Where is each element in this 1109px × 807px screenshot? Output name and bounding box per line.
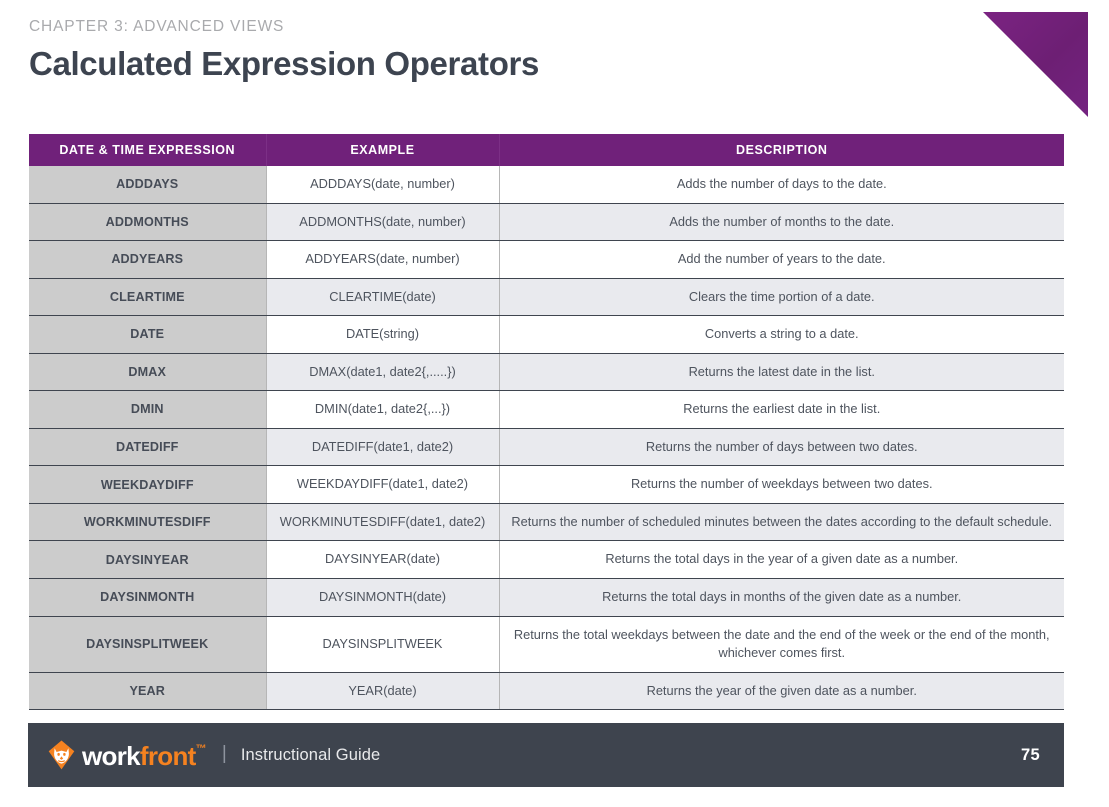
table-row: ADDYEARSADDYEARS(date, number)Add the nu… bbox=[29, 241, 1064, 279]
cell-expression-name: DAYSINSPLITWEEK bbox=[29, 616, 266, 672]
cell-example: ADDDAYS(date, number) bbox=[266, 166, 499, 203]
cell-description: Returns the total days in the year of a … bbox=[499, 541, 1064, 579]
operators-table: DATE & TIME EXPRESSION EXAMPLE DESCRIPTI… bbox=[29, 134, 1064, 710]
table-row: DATEDIFFDATEDIFF(date1, date2)Returns th… bbox=[29, 428, 1064, 466]
footer-bar: workfront™ | Instructional Guide 75 bbox=[28, 723, 1064, 787]
cell-expression-name: DMAX bbox=[29, 353, 266, 391]
cell-description: Returns the total weekdays between the d… bbox=[499, 616, 1064, 672]
brand-word-work: work bbox=[82, 741, 140, 771]
table-row: WORKMINUTESDIFFWORKMINUTESDIFF(date1, da… bbox=[29, 503, 1064, 541]
brand-word-front: front bbox=[140, 741, 196, 771]
cell-description: Returns the number of scheduled minutes … bbox=[499, 503, 1064, 541]
page-number: 75 bbox=[1021, 746, 1040, 765]
cell-example: WEEKDAYDIFF(date1, date2) bbox=[266, 466, 499, 504]
table-row: DMAXDMAX(date1, date2{,.....})Returns th… bbox=[29, 353, 1064, 391]
cell-example: DAYSINYEAR(date) bbox=[266, 541, 499, 579]
corner-triangle-decoration bbox=[983, 12, 1088, 117]
cell-description: Converts a string to a date. bbox=[499, 316, 1064, 354]
cell-example: DMAX(date1, date2{,.....}) bbox=[266, 353, 499, 391]
table-body: ADDDAYSADDDAYS(date, number)Adds the num… bbox=[29, 166, 1064, 710]
cell-example: DATEDIFF(date1, date2) bbox=[266, 428, 499, 466]
table-row: ADDDAYSADDDAYS(date, number)Adds the num… bbox=[29, 166, 1064, 203]
table-header-row: DATE & TIME EXPRESSION EXAMPLE DESCRIPTI… bbox=[29, 134, 1064, 166]
table-row: DAYSINSPLITWEEKDAYSINSPLITWEEKReturns th… bbox=[29, 616, 1064, 672]
lion-shield-icon bbox=[48, 740, 75, 770]
cell-expression-name: WORKMINUTESDIFF bbox=[29, 503, 266, 541]
cell-example: DAYSINMONTH(date) bbox=[266, 579, 499, 617]
chapter-eyebrow: CHAPTER 3: ADVANCED VIEWS bbox=[29, 18, 539, 37]
cell-example: CLEARTIME(date) bbox=[266, 278, 499, 316]
column-header-description: DESCRIPTION bbox=[499, 134, 1064, 166]
table-row: DAYSINMONTHDAYSINMONTH(date)Returns the … bbox=[29, 579, 1064, 617]
cell-description: Returns the number of days between two d… bbox=[499, 428, 1064, 466]
page-title: Calculated Expression Operators bbox=[29, 45, 539, 83]
cell-expression-name: YEAR bbox=[29, 672, 266, 710]
cell-description: Returns the year of the given date as a … bbox=[499, 672, 1064, 710]
cell-expression-name: DAYSINYEAR bbox=[29, 541, 266, 579]
cell-description: Returns the earliest date in the list. bbox=[499, 391, 1064, 429]
table-row: DAYSINYEARDAYSINYEAR(date)Returns the to… bbox=[29, 541, 1064, 579]
cell-expression-name: DMIN bbox=[29, 391, 266, 429]
cell-example: DAYSINSPLITWEEK bbox=[266, 616, 499, 672]
brand-wordmark: workfront™ bbox=[82, 743, 206, 769]
cell-expression-name: DATE bbox=[29, 316, 266, 354]
trademark-symbol: ™ bbox=[196, 743, 206, 755]
cell-example: ADDMONTHS(date, number) bbox=[266, 203, 499, 241]
cell-expression-name: DAYSINMONTH bbox=[29, 579, 266, 617]
cell-description: Returns the total days in months of the … bbox=[499, 579, 1064, 617]
cell-example: YEAR(date) bbox=[266, 672, 499, 710]
cell-description: Adds the number of months to the date. bbox=[499, 203, 1064, 241]
table-row: DATEDATE(string)Converts a string to a d… bbox=[29, 316, 1064, 354]
cell-expression-name: ADDYEARS bbox=[29, 241, 266, 279]
cell-expression-name: ADDMONTHS bbox=[29, 203, 266, 241]
cell-example: DMIN(date1, date2{,...}) bbox=[266, 391, 499, 429]
column-header-expression: DATE & TIME EXPRESSION bbox=[29, 134, 266, 166]
brand-lockup: workfront™ | Instructional Guide bbox=[48, 740, 380, 770]
cell-description: Clears the time portion of a date. bbox=[499, 278, 1064, 316]
table-row: DMINDMIN(date1, date2{,...})Returns the … bbox=[29, 391, 1064, 429]
table-header: DATE & TIME EXPRESSION EXAMPLE DESCRIPTI… bbox=[29, 134, 1064, 166]
cell-description: Add the number of years to the date. bbox=[499, 241, 1064, 279]
cell-expression-name: ADDDAYS bbox=[29, 166, 266, 203]
table-row: ADDMONTHSADDMONTHS(date, number)Adds the… bbox=[29, 203, 1064, 241]
cell-description: Adds the number of days to the date. bbox=[499, 166, 1064, 203]
table-row: WEEKDAYDIFFWEEKDAYDIFF(date1, date2)Retu… bbox=[29, 466, 1064, 504]
cell-description: Returns the number of weekdays between t… bbox=[499, 466, 1064, 504]
table-row: CLEARTIMECLEARTIME(date)Clears the time … bbox=[29, 278, 1064, 316]
cell-example: DATE(string) bbox=[266, 316, 499, 354]
column-header-example: EXAMPLE bbox=[266, 134, 499, 166]
cell-expression-name: CLEARTIME bbox=[29, 278, 266, 316]
page-header: CHAPTER 3: ADVANCED VIEWS Calculated Exp… bbox=[29, 18, 539, 83]
cell-example: WORKMINUTESDIFF(date1, date2) bbox=[266, 503, 499, 541]
cell-expression-name: DATEDIFF bbox=[29, 428, 266, 466]
footer-divider: | bbox=[222, 743, 227, 765]
guide-label: Instructional Guide bbox=[241, 746, 380, 765]
table-row: YEARYEAR(date)Returns the year of the gi… bbox=[29, 672, 1064, 710]
cell-description: Returns the latest date in the list. bbox=[499, 353, 1064, 391]
operators-table-container: DATE & TIME EXPRESSION EXAMPLE DESCRIPTI… bbox=[29, 134, 1064, 710]
cell-example: ADDYEARS(date, number) bbox=[266, 241, 499, 279]
cell-expression-name: WEEKDAYDIFF bbox=[29, 466, 266, 504]
